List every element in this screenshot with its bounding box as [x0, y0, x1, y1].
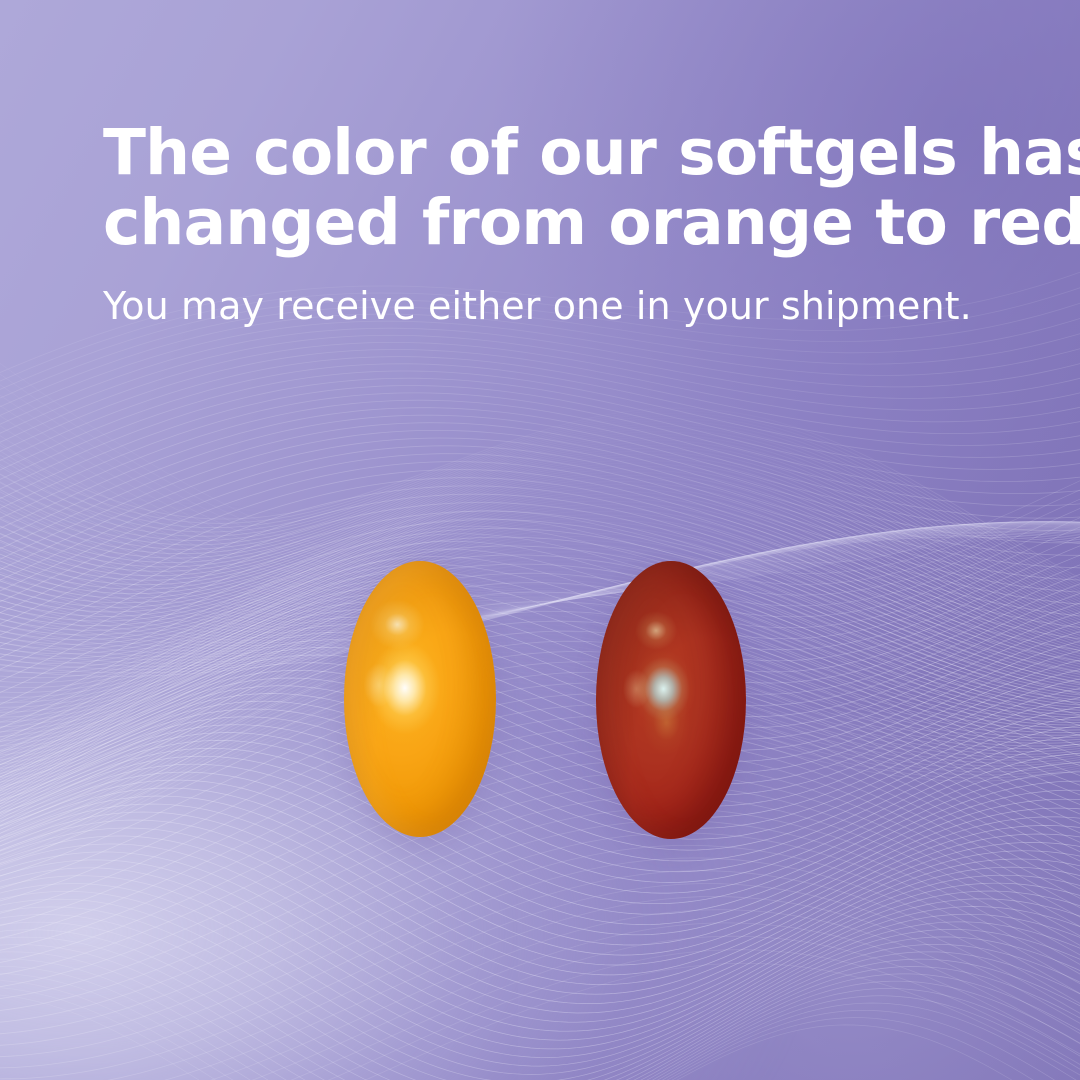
promo-card: The color of our softgels has changed fr… — [0, 0, 1080, 1080]
red-softgel-shading — [596, 561, 746, 839]
orange-softgel-shading — [344, 561, 496, 837]
red-softgel-image — [596, 561, 746, 839]
product-images — [0, 0, 1080, 1080]
orange-softgel-image — [344, 561, 496, 837]
